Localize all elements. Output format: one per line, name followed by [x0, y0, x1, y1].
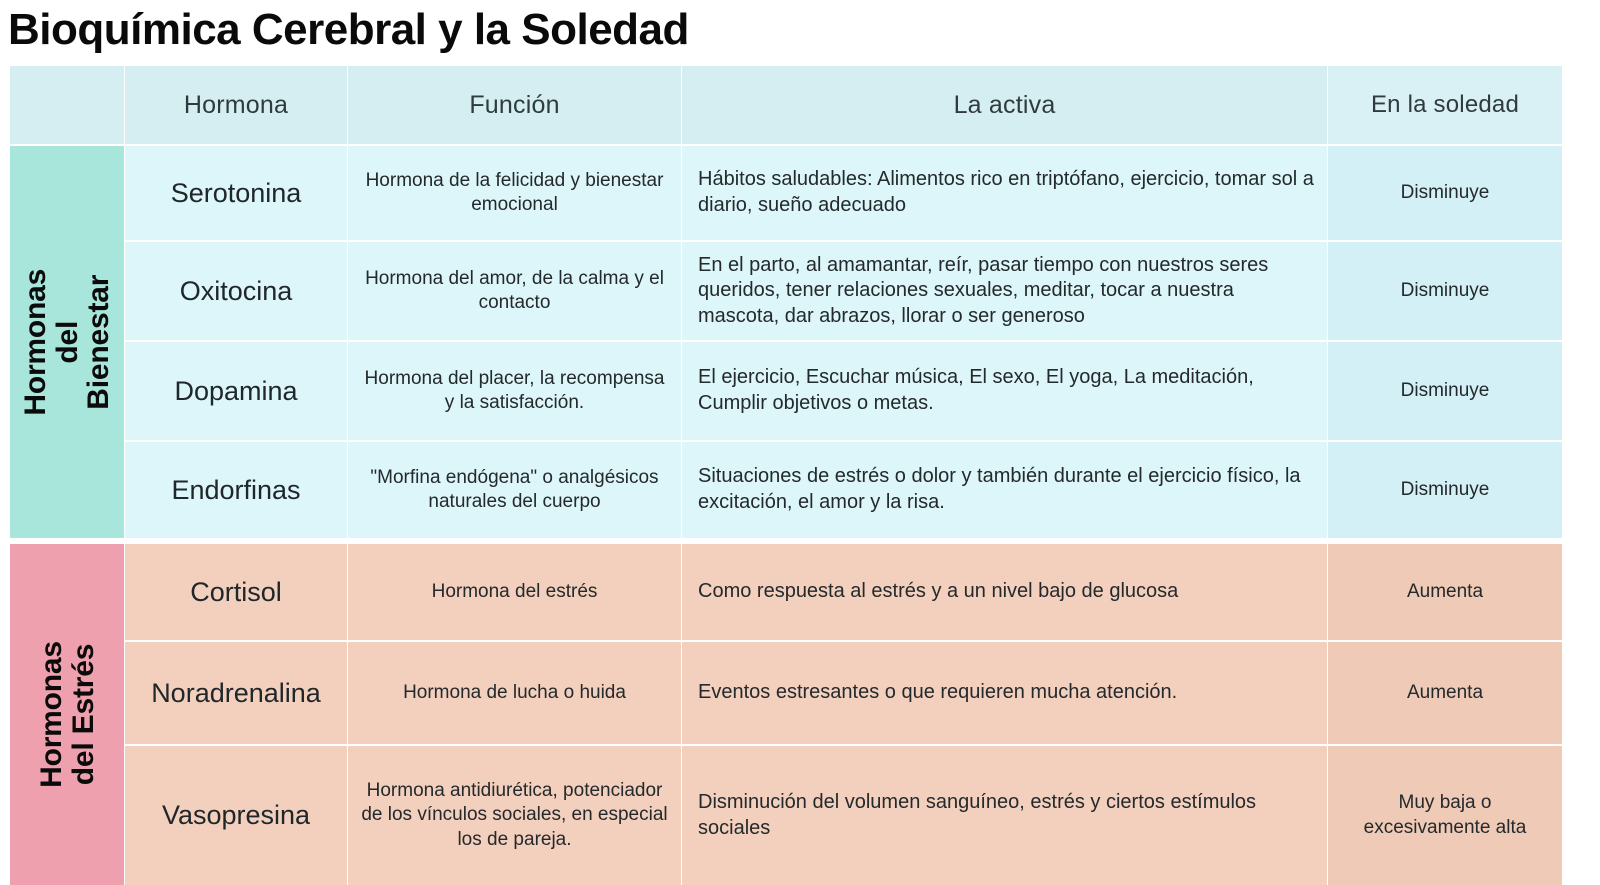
cell-hormona: Oxitocina	[125, 242, 347, 340]
cell-hormona: Endorfinas	[125, 442, 347, 538]
cell-soledad: Disminuye	[1328, 442, 1562, 538]
cell-hormona: Noradrenalina	[125, 642, 347, 744]
cell-activa: Hábitos saludables: Alimentos rico en tr…	[682, 146, 1327, 240]
cell-hormona: Serotonina	[125, 146, 347, 240]
cell-soledad: Aumenta	[1328, 544, 1562, 640]
table-row: Noradrenalina Hormona de lucha o huida E…	[125, 642, 1562, 744]
table-row: Dopamina Hormona del placer, la recompen…	[125, 342, 1562, 440]
hormones-table: Hormona Función La activa En la soledad …	[10, 66, 1562, 885]
page-title: Bioquímica Cerebral y la Soledad	[8, 0, 689, 62]
cell-soledad: Aumenta	[1328, 642, 1562, 744]
cell-activa: El ejercicio, Escuchar música, El sexo, …	[682, 342, 1327, 440]
category-label-stress-text: Hormonas del Estrés	[36, 641, 99, 788]
cell-soledad: Disminuye	[1328, 342, 1562, 440]
table-row: Serotonina Hormona de la felicidad y bie…	[125, 146, 1562, 240]
header-cell-activa: La activa	[682, 66, 1327, 144]
header-cell-hormona: Hormona	[125, 66, 347, 144]
table-row: Cortisol Hormona del estrés Como respues…	[125, 544, 1562, 640]
category-label-wellbeing: Hormonas del Bienestar	[10, 146, 124, 538]
cell-activa: Situaciones de estrés o dolor y también …	[682, 442, 1327, 538]
cell-funcion: Hormona antidiurética, potenciador de lo…	[348, 746, 681, 885]
cell-funcion: Hormona del estrés	[348, 544, 681, 640]
category-label-stress: Hormonas del Estrés	[10, 544, 124, 885]
cell-activa: Disminución del volumen sanguíneo, estré…	[682, 746, 1327, 885]
table-body: Hormonas del Bienestar Hormonas del Estr…	[10, 146, 1562, 885]
infographic-page: Bioquímica Cerebral y la Soledad Hormona…	[0, 0, 1600, 885]
cell-hormona: Dopamina	[125, 342, 347, 440]
cell-funcion: Hormona del amor, de la calma y el conta…	[348, 242, 681, 340]
category-label-wellbeing-text: Hormonas del Bienestar	[20, 269, 115, 416]
header-cell-funcion: Función	[348, 66, 681, 144]
cell-soledad: Disminuye	[1328, 242, 1562, 340]
cell-hormona: Vasopresina	[125, 746, 347, 885]
cell-funcion: Hormona del placer, la recompensa y la s…	[348, 342, 681, 440]
cell-soledad: Muy baja o excesivamente alta	[1328, 746, 1562, 885]
cell-funcion: Hormona de lucha o huida	[348, 642, 681, 744]
cell-soledad: Disminuye	[1328, 146, 1562, 240]
header-cell-spacer	[10, 66, 124, 144]
cell-activa: Eventos estresantes o que requieren much…	[682, 642, 1327, 744]
table-row: Endorfinas "Morfina endógena" o analgési…	[125, 442, 1562, 538]
cell-activa: En el parto, al amamantar, reír, pasar t…	[682, 242, 1327, 340]
header-cell-soledad: En la soledad	[1328, 66, 1562, 144]
cell-hormona: Cortisol	[125, 544, 347, 640]
cell-funcion: Hormona de la felicidad y bienestar emoc…	[348, 146, 681, 240]
cell-activa: Como respuesta al estrés y a un nivel ba…	[682, 544, 1327, 640]
cell-funcion: "Morfina endógena" o analgésicos natural…	[348, 442, 681, 538]
table-row: Vasopresina Hormona antidiurética, poten…	[125, 746, 1562, 885]
table-row: Oxitocina Hormona del amor, de la calma …	[125, 242, 1562, 340]
table-header-row: Hormona Función La activa En la soledad	[10, 66, 1562, 144]
